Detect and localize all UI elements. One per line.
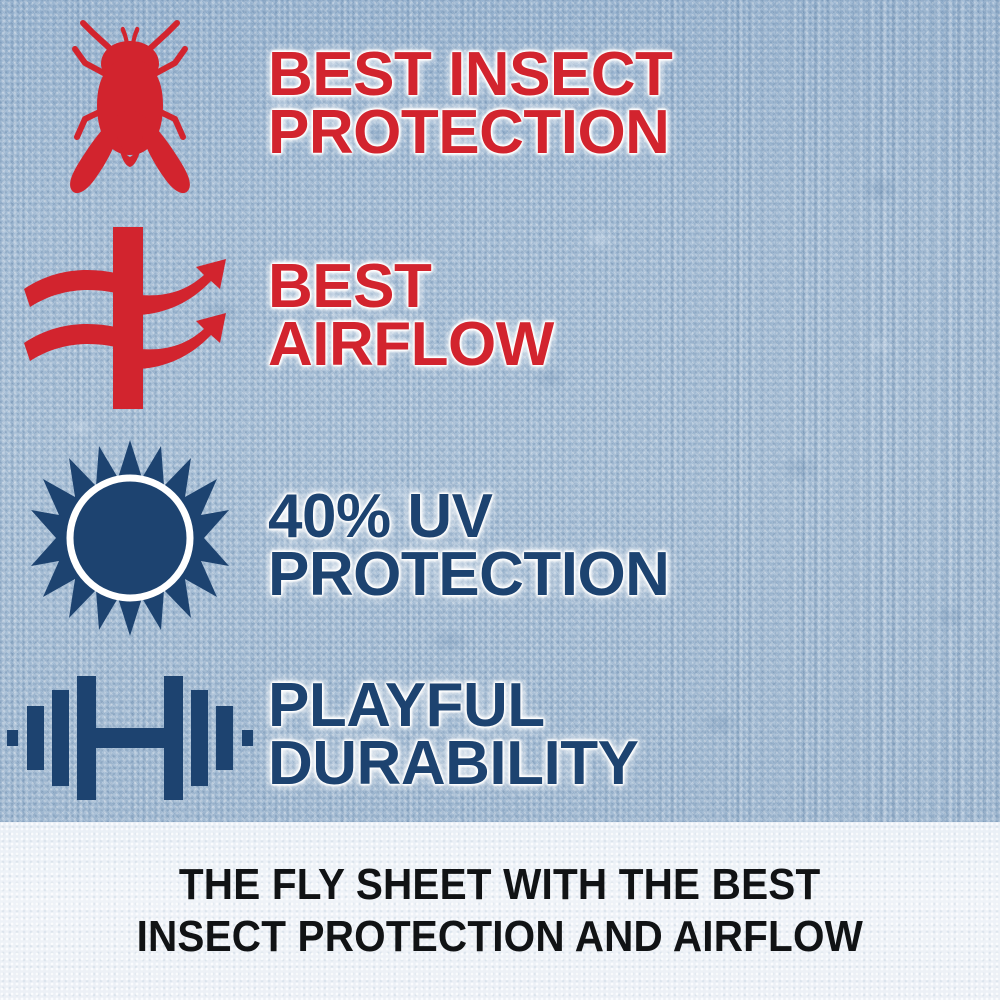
feature-list: BEST INSECT PROTECTION (0, 0, 1000, 822)
product-feature-infographic: BEST INSECT PROTECTION (0, 0, 1000, 1000)
feature-label-insect-protection: BEST INSECT PROTECTION (268, 46, 672, 162)
dumbbell-icon-cell (0, 638, 260, 838)
feature-label-insect-protection-cell: BEST INSECT PROTECTION (260, 46, 672, 162)
sun-uv-icon-cell (0, 438, 260, 638)
feature-label-durability-cell: PLAYFUL DURABILITY (260, 677, 638, 793)
caption-line-2: INSECT PROTECTION AND AIRFLOW (137, 911, 863, 963)
dumbbell-icon (5, 668, 255, 808)
feature-row-insect-protection: BEST INSECT PROTECTION (0, 10, 672, 210)
caption-line-1: THE FLY SHEET WITH THE BEST (179, 859, 820, 911)
airflow-through-barrier-icon (20, 223, 240, 413)
sun-uv-icon (30, 438, 230, 638)
feature-row-uv-protection: 40% UV PROTECTION (0, 438, 669, 638)
feature-row-durability: PLAYFUL DURABILITY (0, 638, 638, 838)
airflow-icon-cell (0, 218, 260, 418)
fly-icon-cell (0, 10, 260, 210)
feature-row-airflow: BEST AIRFLOW (0, 218, 554, 418)
feature-label-durability: PLAYFUL DURABILITY (268, 677, 638, 793)
caption-band: THE FLY SHEET WITH THE BEST INSECT PROTE… (0, 822, 1000, 1000)
feature-label-airflow: BEST AIRFLOW (268, 258, 554, 374)
feature-label-airflow-cell: BEST AIRFLOW (260, 258, 554, 374)
fly-icon (55, 15, 205, 205)
feature-label-uv-protection-cell: 40% UV PROTECTION (260, 488, 669, 604)
feature-label-uv-protection: 40% UV PROTECTION (268, 488, 669, 604)
